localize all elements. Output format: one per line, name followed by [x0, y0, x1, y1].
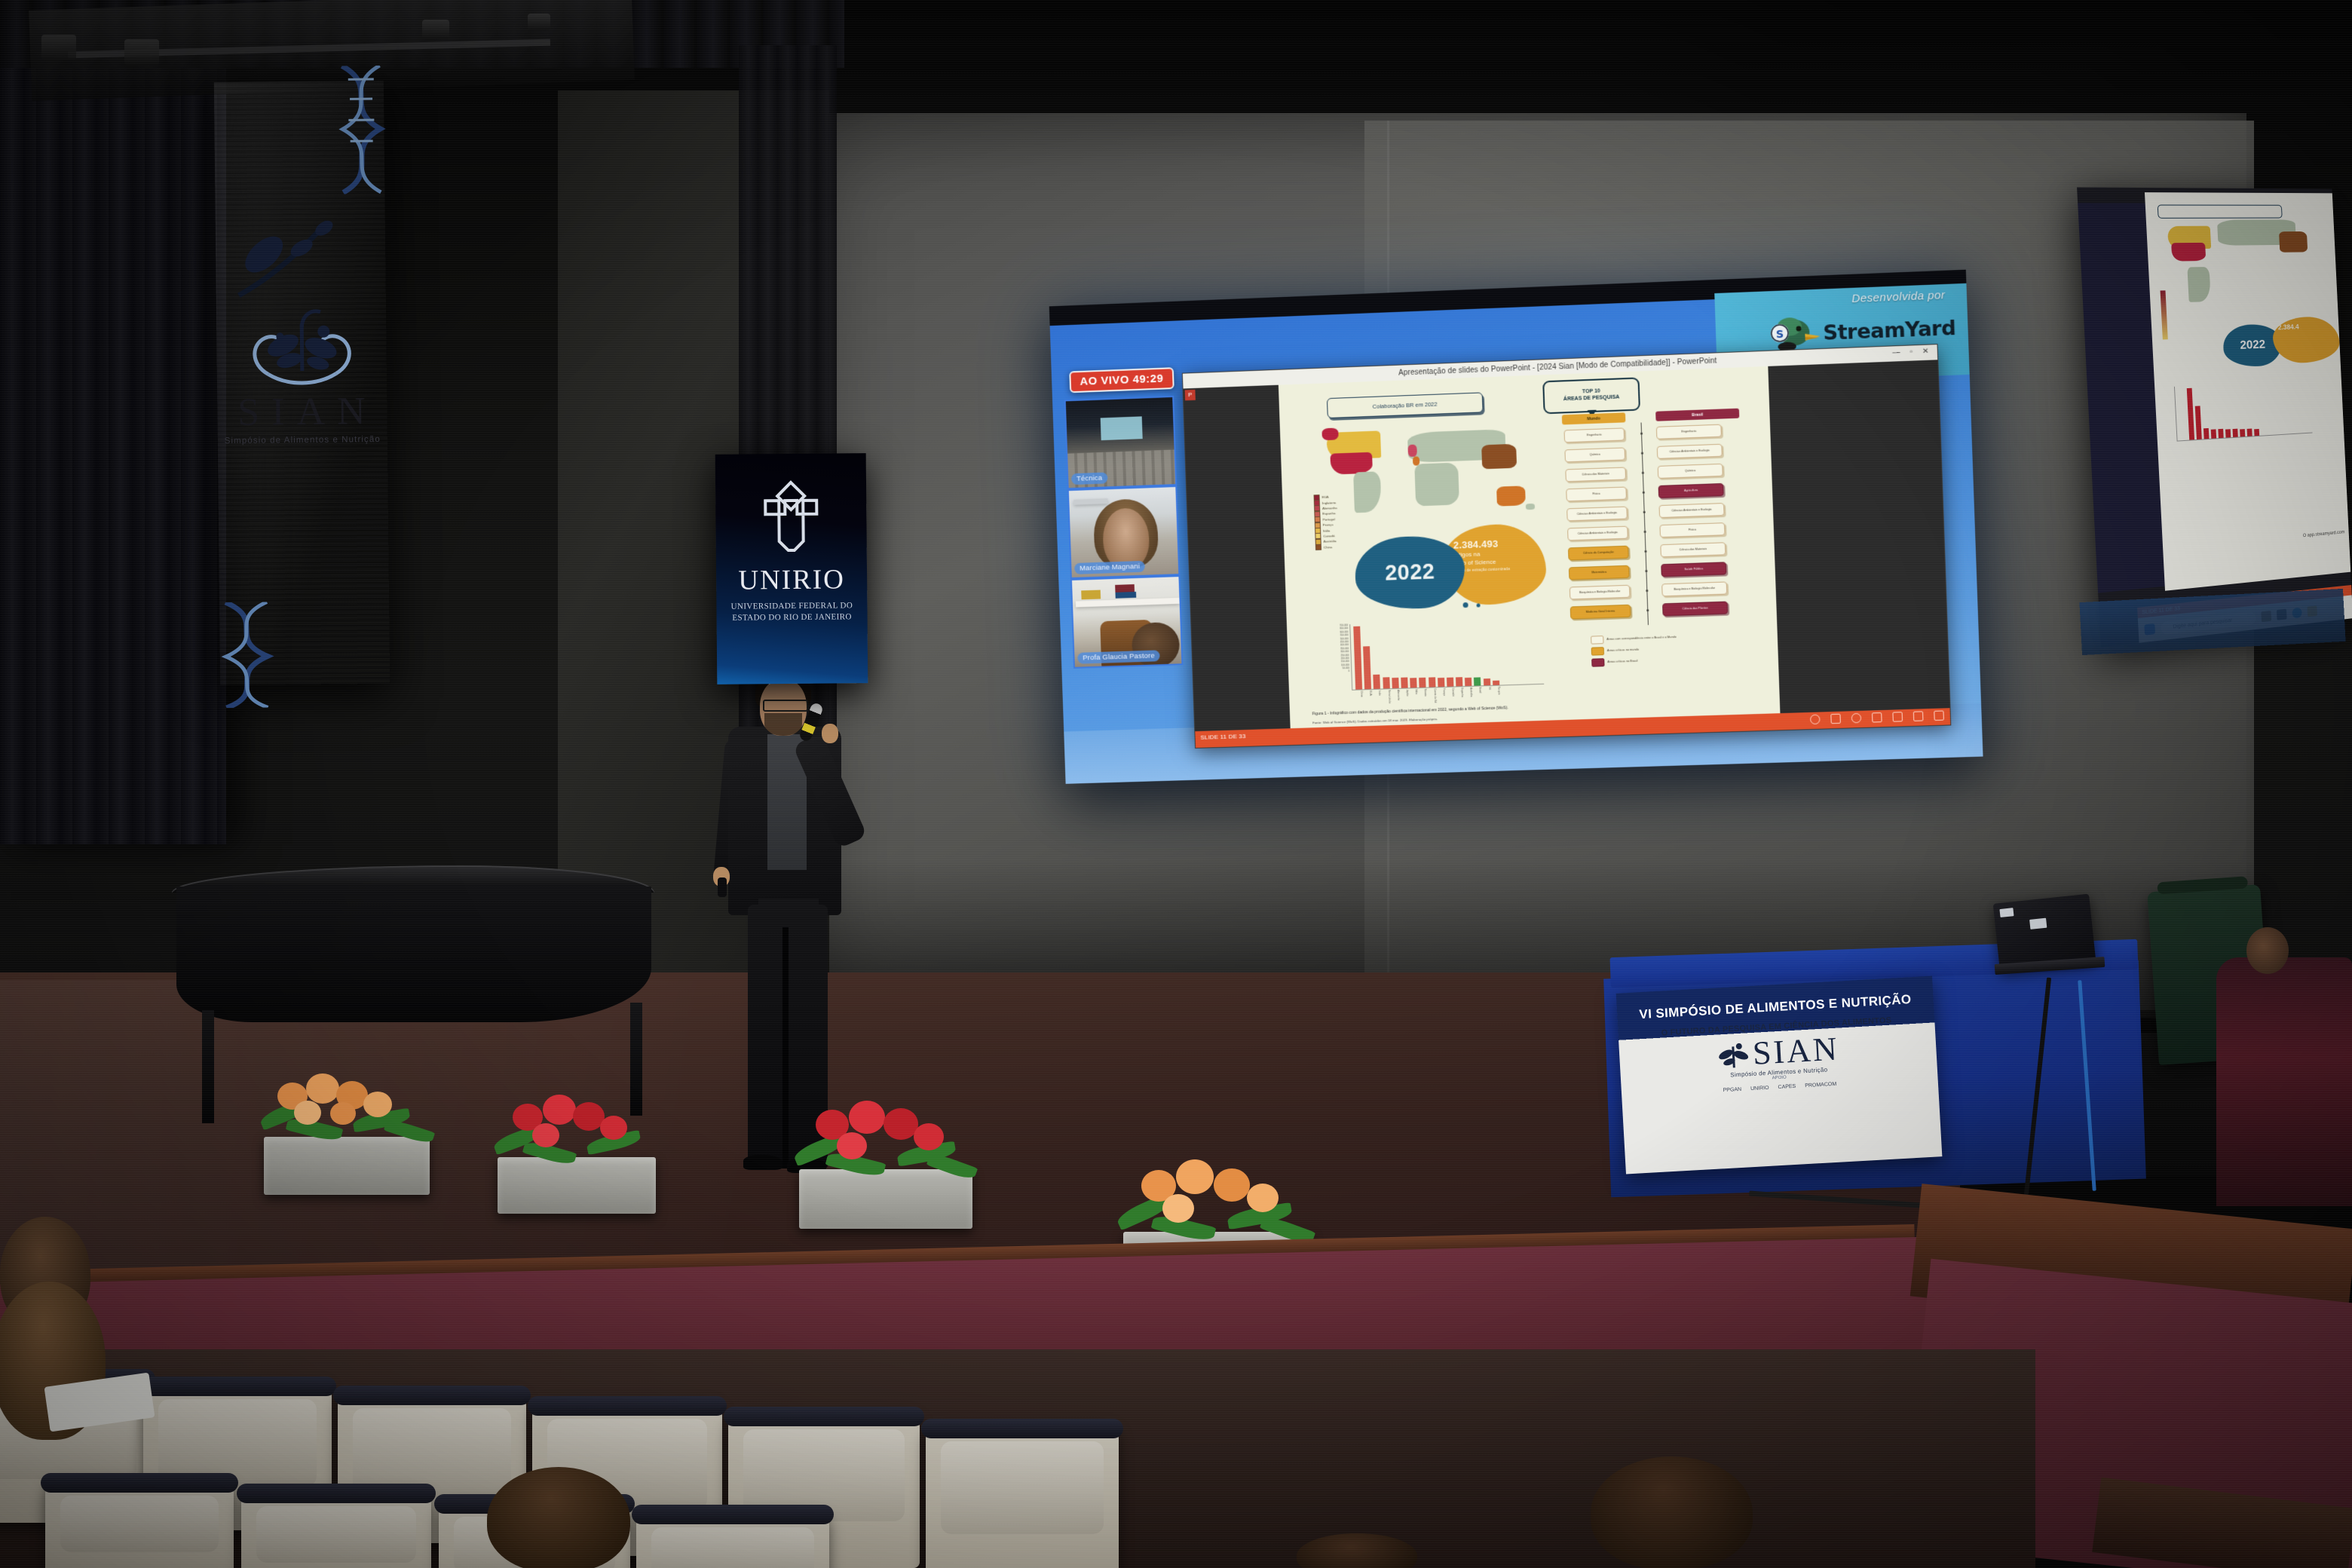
slide-year-value: 2022	[1385, 559, 1435, 586]
map-region	[2187, 267, 2210, 302]
slide-map-legend: EUA Inglaterra Alemanha Espanha Portugal…	[1314, 494, 1339, 550]
flow-node-brazil: Ciência das Plantas	[1662, 602, 1728, 617]
streamyard-brand-text: StreamYard	[1823, 316, 1956, 345]
bar-chart-bar	[1374, 675, 1381, 689]
flow-column-header-brazil: Brasil	[1655, 409, 1739, 421]
flow-legend: Áreas com correspondência entre o Brasil…	[1591, 633, 1677, 670]
slide-collab-pill: Colaboração BR em 2022	[1327, 392, 1484, 418]
audience-seat[interactable]	[241, 1487, 431, 1568]
bar-chart-x-tick: Reino Unido	[1384, 690, 1392, 705]
flow-node-brazil: Ciência dos Materiais	[1660, 542, 1726, 557]
powerpoint-tab-badge[interactable]: P	[1185, 390, 1196, 400]
bar-chart-bar	[1410, 678, 1416, 688]
presentation-clicker-icon	[718, 877, 727, 897]
banner-unirio-line1: UNIVERSIDADE FEDERAL DO	[716, 600, 867, 613]
flow-connector-dot	[1643, 492, 1645, 494]
bar-chart-bar	[1484, 678, 1490, 685]
banner-sian-subtitle: Simpósio de Alimentos e Nutrição	[218, 435, 387, 446]
table-banner: VI SIMPÓSIO DE ALIMENTOS E NUTRIÇÃO O FU…	[1616, 975, 1943, 1174]
flow-connector-dot	[1646, 609, 1649, 611]
sponsor-logo: CAPES	[1778, 1084, 1796, 1090]
bar-chart-x-tick: França	[1438, 688, 1446, 703]
bar-chart-x-tick: Brasil	[1475, 687, 1483, 702]
flow-node-world: Engenharia	[1563, 427, 1625, 443]
monitor-slide-pill	[2158, 205, 2283, 219]
banner-unirio-title: UNIRIO	[716, 563, 867, 597]
bar-chart-x-tick: Rússia	[1420, 689, 1428, 704]
bar-chart-bar	[1353, 626, 1362, 690]
bar-chart-x-tick: EUA	[1365, 691, 1373, 706]
hall-projection-thumb	[1101, 416, 1143, 440]
bar-chart-plot-area	[1349, 618, 1544, 691]
flow-node-world: Química	[1564, 447, 1625, 462]
bar-chart-x-tick: Itália	[1411, 689, 1419, 704]
monitor-legend-swatches	[2161, 290, 2168, 339]
bar-chart-bar	[1429, 678, 1435, 688]
bar-chart-bar	[1456, 677, 1462, 686]
audience-seat[interactable]	[926, 1422, 1119, 1568]
bar-chart-bar	[1447, 678, 1453, 687]
bar-chart-bar	[1392, 677, 1398, 688]
bar-chart-bar	[1401, 678, 1407, 688]
slide-stat-line4: Dados de extração customizada	[1454, 566, 1537, 574]
bar-chart-bar	[1474, 678, 1481, 686]
banner-unirio-line2: ESTADO DO RIO DE JANEIRO	[717, 611, 868, 624]
flow-node-world: Ciência da Computação	[1568, 546, 1629, 561]
video-label: Marciane Magnani	[1074, 561, 1145, 574]
flow-connector-dot	[1641, 452, 1643, 455]
plant-leaf-icon	[1716, 1037, 1750, 1071]
blob-dot	[1462, 602, 1468, 608]
pen-icon[interactable]	[1830, 714, 1841, 724]
stage-light-icon	[124, 39, 159, 65]
audience-seat[interactable]	[636, 1508, 829, 1568]
browser-url-text: O app.streamyard.com	[2303, 530, 2345, 538]
flow-node-brazil: Bioquímica e Biologia Molecular	[1661, 581, 1727, 596]
flow-connector-dot	[1643, 511, 1646, 513]
grand-piano-body	[176, 887, 651, 1022]
planter-box	[799, 1169, 972, 1229]
sponsor-logo: PROMACOM	[1805, 1082, 1836, 1089]
window-controls[interactable]: — ▫ ✕	[1892, 347, 1933, 357]
laptop-sticker	[2029, 918, 2047, 929]
sponsor-logo: PPGAN	[1723, 1087, 1741, 1093]
bar-chart-x-tick: China	[1356, 691, 1364, 706]
monitor-slide-content: 2022 2.384.4 O app.streamyard.com	[2145, 192, 2350, 591]
book-stack	[1115, 592, 1136, 599]
bar-chart-y-axis: 700.000650.000600.000550.000500.000450.0…	[1325, 624, 1350, 691]
bar-chart-x-tick: Japão	[1402, 689, 1410, 704]
plant-leaf-icon	[244, 304, 358, 390]
bar-chart-bar	[1438, 678, 1444, 688]
flower-planter-red	[799, 1093, 972, 1229]
banner-sian-title: SIAN	[228, 392, 387, 433]
monitor-bar-chart	[2174, 380, 2313, 449]
projection-screen: Desenvolvida por S StreamYard AO VIVO 49…	[1049, 270, 1983, 784]
blob-dot	[1476, 603, 1480, 607]
slide-bar-chart: 700.000650.000600.000550.000500.000450.0…	[1325, 618, 1544, 703]
bar-chart-bar	[1493, 681, 1499, 685]
bar-chart-bar	[1465, 678, 1472, 687]
powerpoint-slide-canvas: Colaboração BR em 2022 TOP 10 ÁREAS DE P…	[1279, 366, 1781, 731]
video-label: Técnica	[1071, 472, 1107, 485]
flow-node-world: Medicina Geral Interna	[1570, 605, 1631, 620]
map-region	[2279, 231, 2308, 253]
slide-research-areas-flow: Mundo Brasil EngenhariaQuímicaCiência do…	[1562, 403, 1759, 637]
flow-node-brazil: Ciências Ambientais e Ecologia	[1658, 503, 1724, 518]
flow-node-world: Bioquímica e Biologia Molecular	[1570, 585, 1631, 600]
notes-icon[interactable]	[1872, 712, 1882, 722]
flow-node-brazil: Agricultura	[1658, 483, 1724, 498]
bar-chart-bar	[1363, 646, 1371, 689]
unirio-trident-icon	[752, 479, 831, 562]
audience-head	[1591, 1456, 1753, 1568]
video-tile-tecnica[interactable]: Técnica	[1064, 396, 1177, 489]
monitor-stat-blob: 2.384.4	[2272, 316, 2341, 364]
flow-node-brazil: Saúde Pública	[1661, 562, 1726, 577]
table-banner-logo-text: SIAN	[1752, 1033, 1840, 1070]
grid-view-icon[interactable]	[1892, 712, 1903, 722]
slide-counter: SLIDE 11 DE 33	[1200, 733, 1245, 741]
bar-chart-bar	[1383, 677, 1389, 688]
banner-sian: SIAN Simpósio de Alimentos e Nutrição	[214, 81, 390, 685]
seated-person-head	[2246, 927, 2289, 974]
more-options-icon[interactable]	[1934, 710, 1944, 721]
bar-chart-x-tick: Índia	[1374, 691, 1382, 706]
flow-column-header-world: Mundo	[1562, 412, 1626, 424]
stage-light-icon	[41, 35, 76, 60]
flow-node-world: Ciência dos Materiais	[1565, 467, 1626, 482]
bar-chart-y-tick: 0	[1328, 670, 1350, 674]
slide-year-blob: 2022	[1354, 534, 1466, 611]
monitor-year-blob: 2022	[2222, 323, 2283, 367]
stage-curtain-left	[0, 0, 226, 844]
flower-planter-red	[498, 1086, 656, 1214]
dna-helix-icon	[327, 65, 412, 194]
audience-head	[487, 1467, 630, 1568]
powerpoint-presenter-toolbar[interactable]	[1810, 710, 1944, 724]
flow-node-brazil: Engenharia	[1656, 424, 1722, 439]
presenter-leg-gap	[782, 927, 789, 1168]
flow-connector-dot	[1644, 531, 1646, 533]
planter-box	[498, 1157, 656, 1214]
flow-connector-dot	[1640, 433, 1643, 435]
pointer-icon[interactable]	[1810, 715, 1821, 724]
zoom-icon[interactable]	[1913, 711, 1924, 721]
seated-person-right	[2216, 957, 2352, 1206]
bar-chart-x-tick: Austrália	[1466, 688, 1474, 703]
video-tile-glaucia-pastore[interactable]: Profa Glaucia Pastore	[1070, 575, 1184, 669]
eyeglasses-icon	[763, 700, 808, 712]
screenshot-scene: SIAN Simpósio de Alimentos e Nutrição UN…	[0, 0, 2352, 1568]
flower-planter-orange	[264, 1063, 430, 1195]
planter-box	[264, 1137, 430, 1195]
flow-connector-dot	[1644, 550, 1646, 553]
flow-connector-dot	[1646, 590, 1648, 592]
bar-chart-x-tick: Alemanha	[1393, 690, 1401, 705]
flow-connector-dot	[1642, 472, 1644, 474]
flow-node-world: Física	[1566, 487, 1627, 502]
bar-chart-x-tick: Coreia do Sul	[1429, 688, 1437, 703]
bar-chart-x-tick: Espanha	[1457, 688, 1465, 703]
live-status-badge: AO VIVO 49:29	[1069, 367, 1174, 393]
participant-video-column: Técnica Marciane Magnani Profa Glaucia P…	[1064, 396, 1184, 669]
dna-helix-icon	[210, 602, 302, 708]
slide-world-map	[1318, 412, 1566, 533]
bar-chart-x-tick: Irã	[1484, 687, 1492, 702]
banner-unirio: UNIRIO UNIVERSIDADE FEDERAL DO ESTADO DO…	[715, 453, 868, 684]
flow-node-world: Matemática	[1569, 565, 1630, 580]
laptop-sticker	[1999, 908, 2014, 917]
audience-seat[interactable]	[45, 1476, 234, 1568]
flow-node-world: Ciências Ambientais e Ecologia	[1566, 507, 1628, 522]
flow-node-brazil: Ciências Ambientais e Ecologia	[1657, 444, 1723, 459]
stage-light-icon	[528, 14, 550, 30]
laser-icon[interactable]	[1851, 713, 1862, 723]
presenter-right-hand	[822, 724, 838, 743]
bar-chart-bar	[1419, 678, 1426, 688]
presenter-beard	[764, 713, 802, 736]
stage-light-icon	[422, 20, 449, 39]
secondary-monitor: 2022 2.384.4 O app.streamyard.com SLI	[2077, 187, 2352, 647]
piano-leg	[202, 1010, 214, 1123]
presenter-shoe	[743, 1155, 782, 1170]
leaf-branch-icon	[232, 205, 369, 305]
map-region	[2171, 243, 2206, 262]
ac-unit-icon	[1073, 498, 1107, 505]
book-stack	[1081, 590, 1101, 600]
flow-node-brazil: Química	[1658, 464, 1723, 479]
flow-node-world: Ciências Ambientais e Ecologia	[1567, 526, 1628, 541]
flow-connector-dot	[1645, 570, 1647, 572]
video-tile-marciane-magnani[interactable]: Marciane Magnani	[1067, 485, 1180, 579]
powerpoint-window[interactable]: Apresentação de slides do PowerPoint - […	[1182, 344, 1951, 749]
streamyard-duck-icon: S	[1766, 315, 1821, 354]
bar-chart-x-tick: Turquia	[1493, 687, 1501, 702]
svg-text:S: S	[1775, 329, 1784, 341]
flow-node-brazil: Física	[1659, 522, 1725, 537]
sponsor-logo: UNIRIO	[1750, 1086, 1769, 1092]
bar-chart-x-tick: Canadá	[1447, 688, 1455, 703]
